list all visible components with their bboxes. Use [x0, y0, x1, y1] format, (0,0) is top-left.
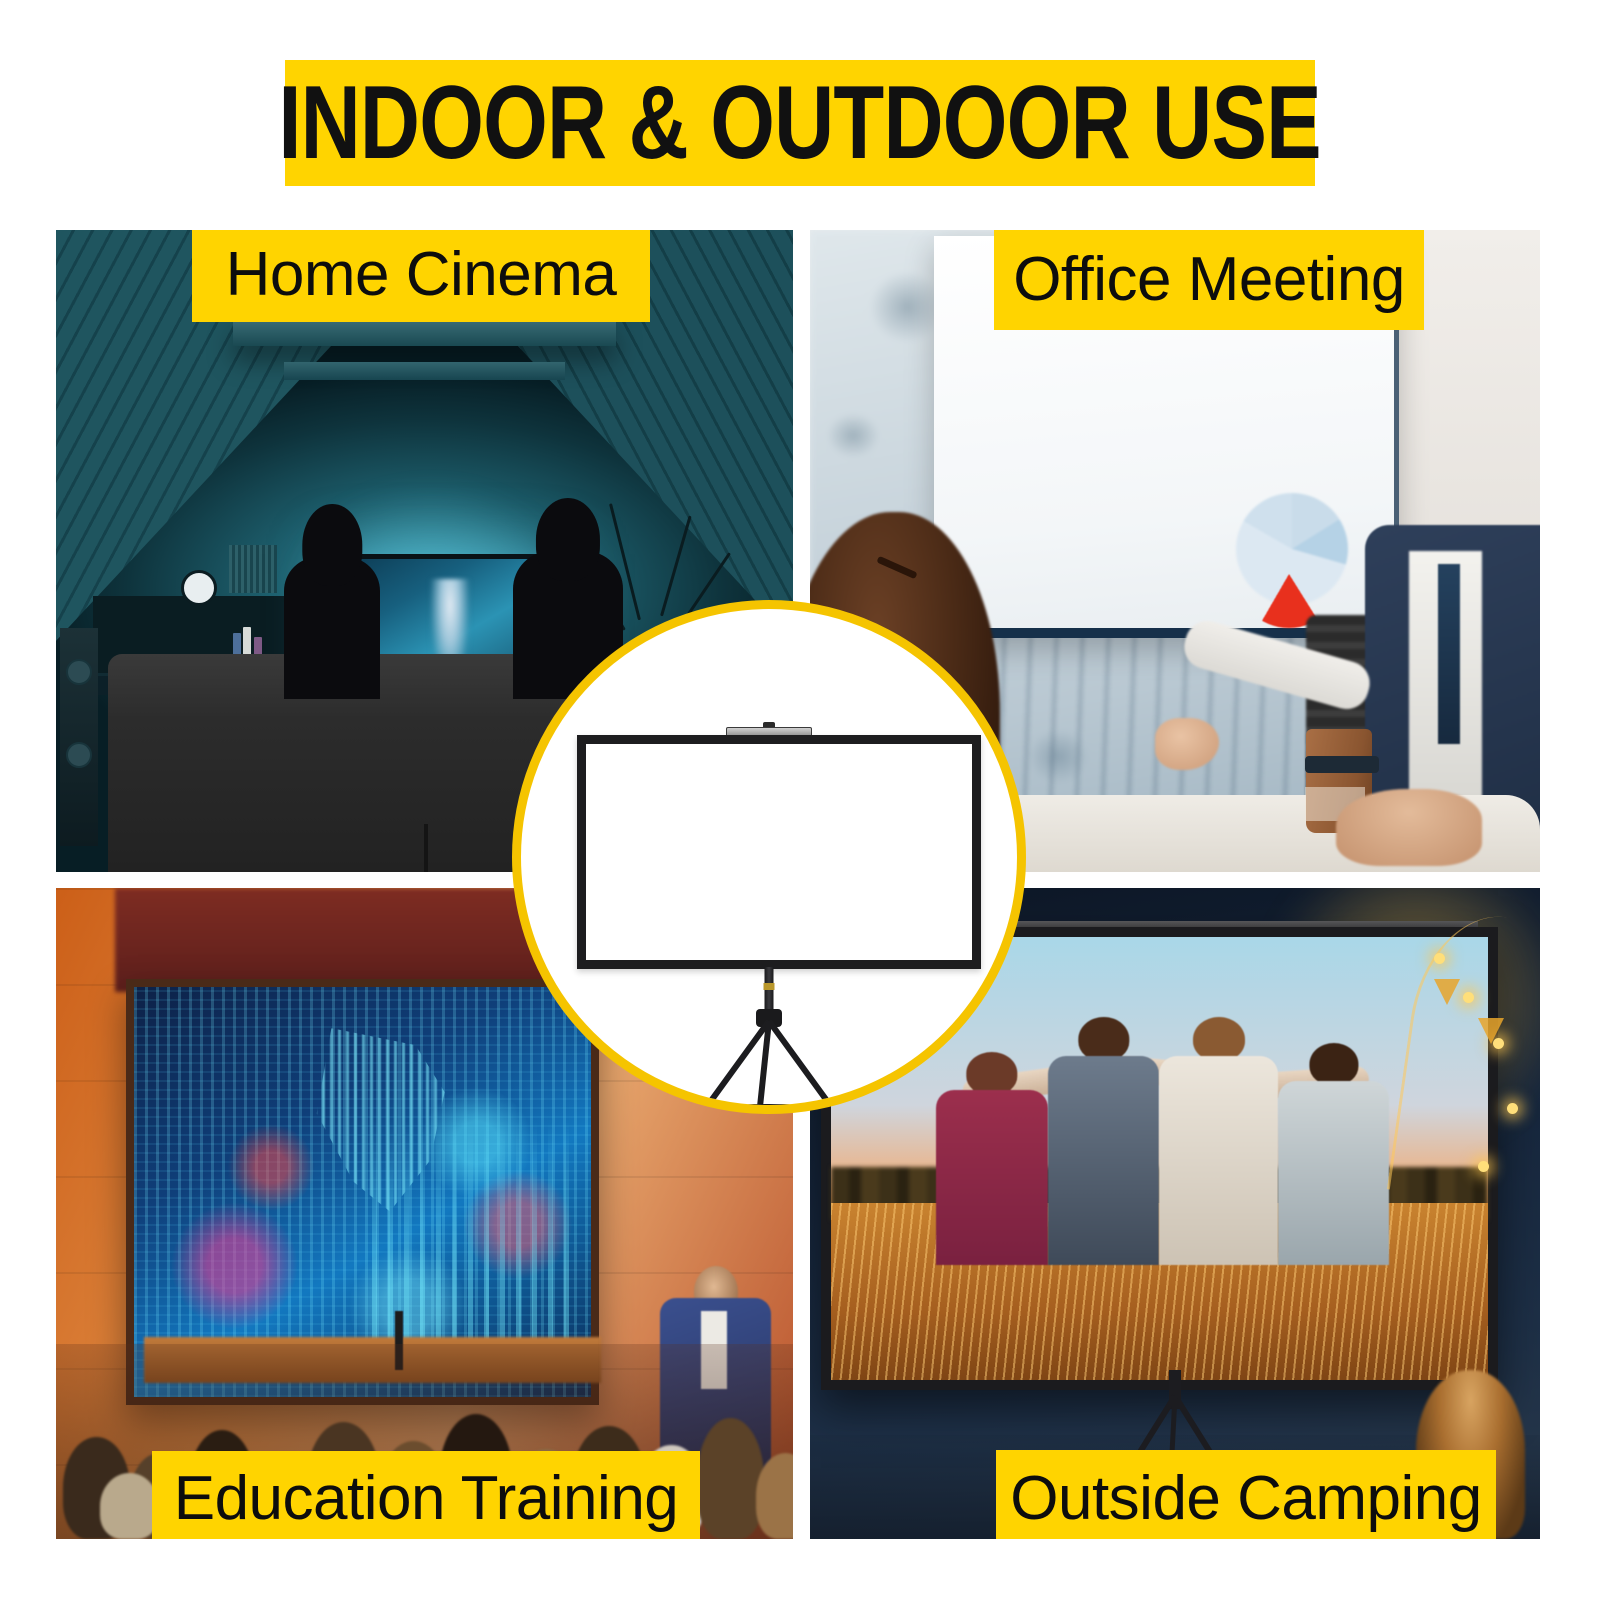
caption-education-training: Education Training — [152, 1451, 700, 1539]
product-screen-frame — [577, 735, 981, 969]
product-screen-surface — [586, 744, 972, 960]
caption-outside-camping: Outside Camping — [996, 1450, 1496, 1539]
header-banner: INDOOR & OUTDOOR USE — [285, 60, 1315, 186]
pie-chart-red-slice — [1235, 520, 1343, 628]
tripod-pole — [765, 967, 774, 1015]
tripod-pole-joint — [764, 983, 775, 990]
tripod-brace — [739, 1104, 799, 1114]
caption-office-meeting: Office Meeting — [994, 230, 1424, 330]
tripod-leg-left — [767, 1019, 841, 1114]
caption-home-cinema: Home Cinema — [192, 230, 650, 322]
product-highlight-circle — [512, 600, 1026, 1114]
page-title: INDOOR & OUTDOOR USE — [279, 71, 1322, 175]
